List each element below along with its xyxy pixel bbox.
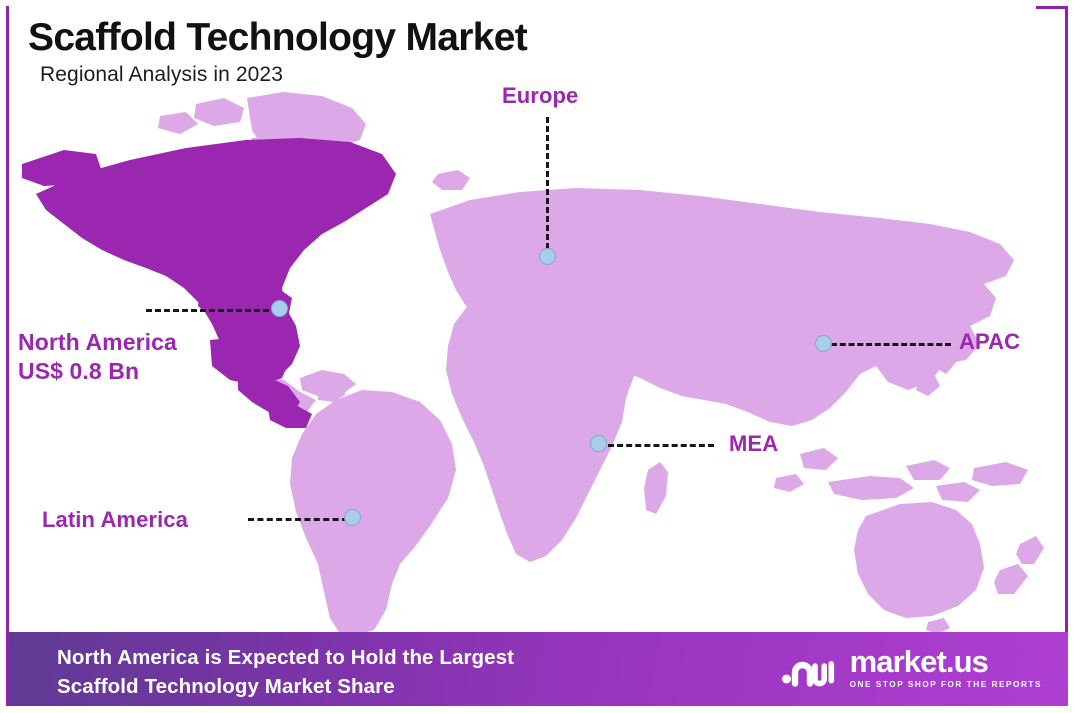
label-europe: Europe bbox=[502, 82, 578, 110]
market-us-logo[interactable]: market.us ONE STOP SHOP FOR THE REPORTS bbox=[781, 646, 1042, 689]
infographic-root: Scaffold Technology Market Regional Anal… bbox=[0, 0, 1074, 713]
logo-wordmark: market.us bbox=[850, 646, 1042, 677]
marker-apac[interactable] bbox=[815, 335, 832, 352]
footer-message: North America is Expected to Hold the La… bbox=[57, 643, 514, 701]
leader-line-mea bbox=[608, 444, 714, 447]
marker-latin-america[interactable] bbox=[344, 509, 361, 526]
label-north-america-value: US$ 0.8 Bn bbox=[18, 358, 139, 384]
label-latin-america: Latin America bbox=[42, 506, 188, 534]
page-title: Scaffold Technology Market bbox=[28, 18, 527, 59]
leader-line-north-america bbox=[146, 309, 278, 312]
footer-line-2: Scaffold Technology Market Share bbox=[57, 672, 514, 701]
leader-line-europe bbox=[546, 117, 549, 258]
leader-line-apac bbox=[831, 343, 951, 346]
footer-banner: North America is Expected to Hold the La… bbox=[9, 632, 1068, 706]
frame-border-top bbox=[1036, 6, 1068, 9]
marker-europe[interactable] bbox=[539, 248, 556, 265]
market-us-logo-text: market.us ONE STOP SHOP FOR THE REPORTS bbox=[850, 646, 1042, 689]
label-apac: APAC bbox=[959, 328, 1020, 356]
logo-tagline: ONE STOP SHOP FOR THE REPORTS bbox=[850, 681, 1042, 689]
label-mea: MEA bbox=[729, 430, 778, 458]
label-north-america-name: North America bbox=[18, 329, 177, 355]
marker-north-america[interactable] bbox=[271, 300, 288, 317]
label-north-america: North America US$ 0.8 Bn bbox=[18, 328, 177, 386]
footer-line-1: North America is Expected to Hold the La… bbox=[57, 643, 514, 672]
marker-mea[interactable] bbox=[590, 435, 607, 452]
leader-line-latin-america bbox=[248, 518, 348, 521]
market-us-logo-icon bbox=[781, 648, 839, 688]
